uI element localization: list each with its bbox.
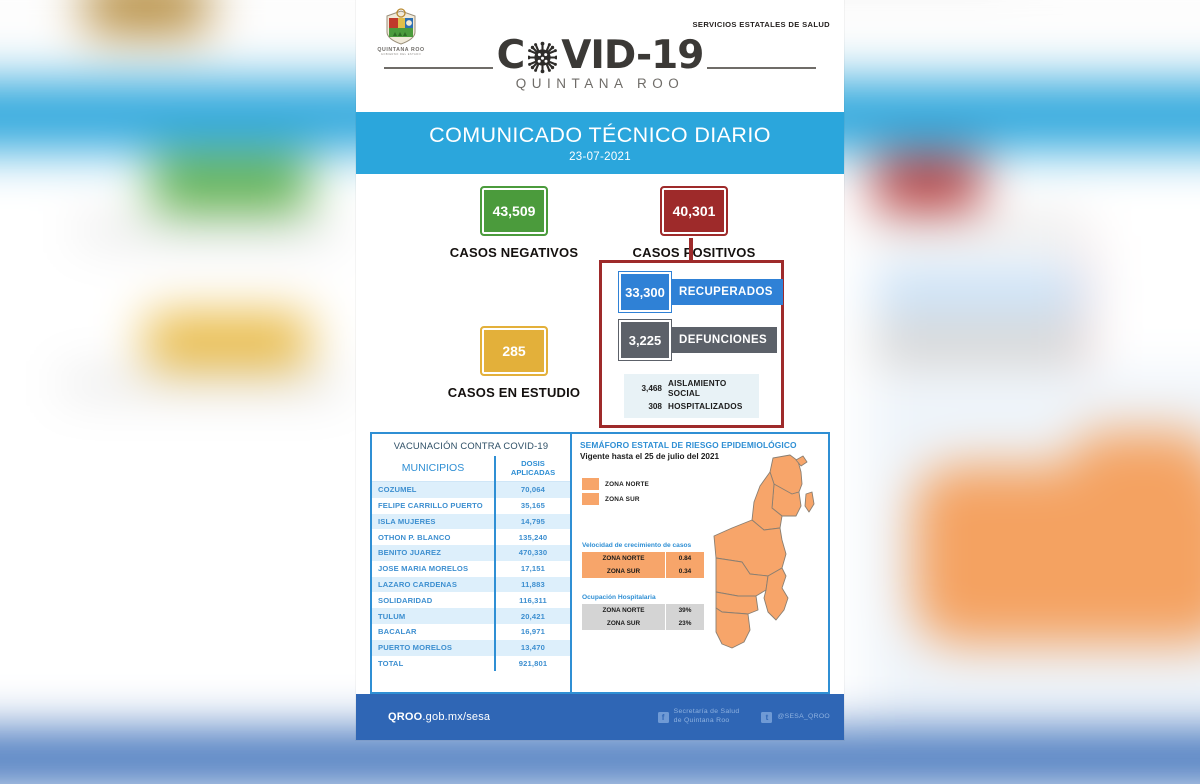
vaccination-dosis: 20,421 (495, 608, 570, 624)
footer: QROO.gob.mx/sesa f Secretaría de Salud d… (356, 694, 844, 740)
twitter-icon: t (761, 712, 772, 723)
footer-url[interactable]: QROO.gob.mx/sesa (388, 711, 490, 723)
legend-swatch-sur (582, 493, 599, 505)
zona-label: ZONA SUR (582, 565, 666, 578)
positivos-value: 40,301 (660, 186, 728, 236)
covid-logo: C (356, 36, 844, 91)
estudio-value: 285 (480, 326, 548, 376)
vaccination-municipio: OTHON P. BLANCO (372, 529, 495, 545)
stat-casos-negativos: 43,509 CASOS NEGATIVOS (434, 186, 594, 260)
velocidad-crecimiento-block: Velocidad de crecimiento de casos ZONA N… (582, 542, 704, 578)
vaccination-row: TULUM20,421 (372, 608, 570, 624)
velocidad-row: ZONA SUR0.34 (582, 565, 704, 578)
zona-label: ZONA SUR (582, 617, 666, 630)
daily-bulletin-banner: COMUNICADO TÉCNICO DIARIO 23-07-2021 (356, 112, 844, 174)
vaccination-title: VACUNACIÓN CONTRA COVID-19 (372, 434, 570, 456)
ocupacion-row: ZONA NORTE39% (582, 604, 704, 617)
vaccination-municipio: BACALAR (372, 624, 495, 640)
negativos-label: CASOS NEGATIVOS (434, 245, 594, 260)
legend-label-sur: ZONA SUR (605, 496, 640, 503)
zona-value: 0.84 (666, 552, 705, 565)
stat-hospitalizados: 308 HOSPITALIZADOS (630, 401, 753, 412)
col-header-dosis: DOSIS APLICADAS (495, 456, 570, 481)
vaccination-municipio: BENITO JUAREZ (372, 545, 495, 561)
positivos-label: CASOS POSITIVOS (614, 245, 774, 260)
vaccination-dosis: 35,165 (495, 498, 570, 514)
vaccination-row: PUERTO MORELOS13,470 (372, 640, 570, 656)
vaccination-dosis: 470,330 (495, 545, 570, 561)
vaccination-row: BENITO JUAREZ470,330 (372, 545, 570, 561)
defunciones-value: 3,225 (619, 320, 671, 360)
semaforo-title: SEMÁFORO ESTATAL DE RIESGO EPIDEMIOLÓGIC… (572, 434, 828, 450)
velocidad-row: ZONA NORTE0.84 (582, 552, 704, 565)
legend-label-norte: ZONA NORTE (605, 481, 649, 488)
defunciones-label: DEFUNCIONES (669, 327, 777, 353)
vaccination-row: ISLA MUJERES14,795 (372, 514, 570, 530)
ocupacion-table: ZONA NORTE39%ZONA SUR23% (582, 604, 704, 630)
negativos-value: 43,509 (480, 186, 548, 236)
vaccination-dosis: 16,971 (495, 624, 570, 640)
facebook-icon: f (658, 712, 669, 723)
stat-recuperados: 33,300 RECUPERADOS (619, 272, 783, 312)
facebook-label: Secretaría de Salud de Quintana Roo (674, 708, 740, 726)
statistics-section: 43,509 CASOS NEGATIVOS 40,301 CASOS POSI… (356, 174, 844, 444)
hospitalizados-label: HOSPITALIZADOS (668, 401, 743, 412)
ocupacion-hospitalaria-block: Ocupación Hospitalaria ZONA NORTE39%ZONA… (582, 594, 704, 630)
header: QUINTANA ROO GOBIERNO DEL ESTADO SERVICI… (356, 0, 844, 112)
footer-url-rest: .gob.mx/sesa (422, 711, 490, 723)
footer-social: f Secretaría de Salud de Quintana Roo t … (636, 708, 830, 726)
vaccination-municipio: FELIPE CARRILLO PUERTO (372, 498, 495, 514)
vaccination-dosis: 921,801 (495, 656, 570, 672)
vaccination-municipio: PUERTO MORELOS (372, 640, 495, 656)
zona-value: 23% (666, 617, 705, 630)
vaccination-row: SOLIDARIDAD116,311 (372, 592, 570, 608)
aislamiento-value: 3,468 (630, 379, 668, 393)
logo-c: C (493, 36, 529, 75)
banner-title: COMUNICADO TÉCNICO DIARIO (429, 123, 771, 148)
vaccination-row: OTHON P. BLANCO135,240 (372, 529, 570, 545)
logo-rule-left (384, 67, 494, 69)
zona-value: 39% (666, 604, 705, 617)
connector-stem (689, 238, 693, 262)
vaccination-row: TOTAL921,801 (372, 656, 570, 672)
vaccination-municipio: COZUMEL (372, 481, 495, 497)
zona-value: 0.34 (666, 565, 705, 578)
quintana-roo-map (702, 450, 824, 665)
stat-defunciones: 3,225 DEFUNCIONES (619, 320, 777, 360)
infographic-card: QUINTANA ROO GOBIERNO DEL ESTADO SERVICI… (356, 0, 844, 740)
footer-twitter[interactable]: t @SESA_QROO (761, 712, 830, 723)
vaccination-dosis: 116,311 (495, 592, 570, 608)
legend-swatch-norte (582, 478, 599, 490)
legend-item-zona-norte: ZONA NORTE (582, 478, 649, 490)
stat-casos-positivos: 40,301 CASOS POSITIVOS (614, 186, 774, 260)
legend-item-zona-sur: ZONA SUR (582, 493, 649, 505)
stat-casos-en-estudio: 285 CASOS EN ESTUDIO (434, 326, 594, 400)
bottom-panel: VACUNACIÓN CONTRA COVID-19 MUNICIPIOS DO… (370, 432, 830, 694)
zona-label: ZONA NORTE (582, 604, 666, 617)
vaccination-dosis: 14,795 (495, 514, 570, 530)
recuperados-value: 33,300 (619, 272, 671, 312)
vaccination-row: JOSE MARIA MORELOS17,151 (372, 561, 570, 577)
recuperados-label: RECUPERADOS (669, 279, 783, 305)
vaccination-municipio: TOTAL (372, 656, 495, 672)
semaforo-section: SEMÁFORO ESTATAL DE RIESGO EPIDEMIOLÓGIC… (572, 434, 828, 692)
vaccination-dosis: 17,151 (495, 561, 570, 577)
logo-vid19: VID-19 (557, 36, 707, 75)
vaccination-municipio: TULUM (372, 608, 495, 624)
footer-facebook[interactable]: f Secretaría de Salud de Quintana Roo (658, 708, 740, 726)
zona-label: ZONA NORTE (582, 552, 666, 565)
vaccination-dosis: 13,470 (495, 640, 570, 656)
banner-date: 23-07-2021 (569, 151, 631, 163)
vaccination-dosis: 70,064 (495, 481, 570, 497)
vaccination-table: MUNICIPIOS DOSIS APLICADAS COZUMEL70,064… (372, 456, 570, 671)
footer-url-bold: QROO (388, 711, 422, 723)
vaccination-municipio: SOLIDARIDAD (372, 592, 495, 608)
col-header-municipios: MUNICIPIOS (372, 456, 495, 481)
twitter-label: @SESA_QROO (777, 713, 830, 722)
hospitalizados-value: 308 (630, 401, 668, 411)
vaccination-dosis: 135,240 (495, 529, 570, 545)
estudio-label: CASOS EN ESTUDIO (434, 385, 594, 400)
velocidad-heading: Velocidad de crecimiento de casos (582, 542, 704, 550)
vaccination-row: LAZARO CARDENAS11,883 (372, 577, 570, 593)
logo-subtitle: QUINTANA ROO (356, 76, 844, 91)
vaccination-municipio: JOSE MARIA MORELOS (372, 561, 495, 577)
ocupacion-row: ZONA SUR23% (582, 617, 704, 630)
ocupacion-heading: Ocupación Hospitalaria (582, 594, 704, 602)
vaccination-row: BACALAR16,971 (372, 624, 570, 640)
vaccination-municipio: LAZARO CARDENAS (372, 577, 495, 593)
vaccination-dosis: 11,883 (495, 577, 570, 593)
coronavirus-icon (526, 41, 559, 74)
semaforo-legend: ZONA NORTE ZONA SUR (582, 478, 649, 508)
aislamiento-label: AISLAMIENTOSOCIAL (668, 379, 726, 400)
org-name: SERVICIOS ESTATALES DE SALUD (692, 20, 830, 29)
stat-aislamiento-social: 3,468 AISLAMIENTOSOCIAL (630, 379, 753, 400)
velocidad-table: ZONA NORTE0.84ZONA SUR0.34 (582, 552, 704, 578)
logo-rule-right (706, 67, 816, 69)
vaccination-section: VACUNACIÓN CONTRA COVID-19 MUNICIPIOS DO… (372, 434, 572, 692)
vaccination-municipio: ISLA MUJERES (372, 514, 495, 530)
activos-breakdown-box: 3,468 AISLAMIENTOSOCIAL 308 HOSPITALIZAD… (624, 374, 759, 418)
vaccination-row: COZUMEL70,064 (372, 481, 570, 497)
vaccination-row: FELIPE CARRILLO PUERTO35,165 (372, 498, 570, 514)
